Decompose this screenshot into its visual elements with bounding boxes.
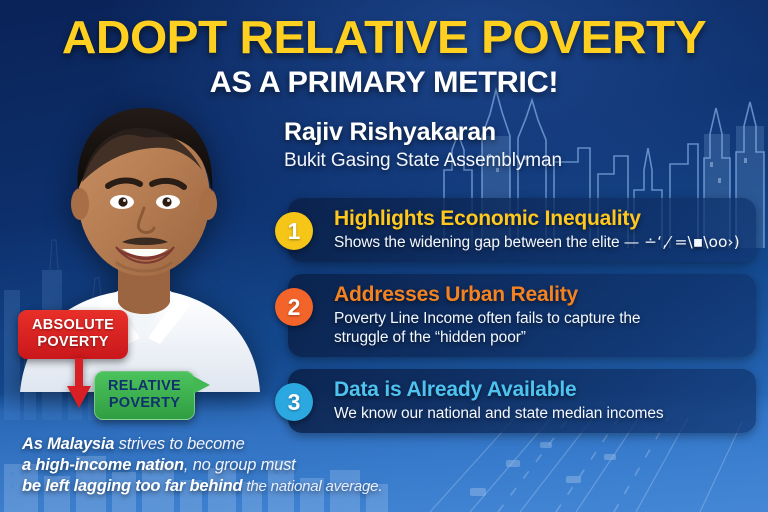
quote-line-3: be left lagging too far behind the natio… <box>22 476 382 497</box>
quote-l1-rest: strives to become <box>114 435 244 453</box>
absolute-poverty-line1: ABSOLUTE <box>32 317 114 334</box>
points-list: 1 Highlights Economic Inequality Shows t… <box>288 198 756 445</box>
point-body-3: We know our national and state median in… <box>334 404 742 423</box>
speaker-identity: Rajiv Rishyakaran Bukit Gasing State Ass… <box>284 118 562 172</box>
point-body-1-text: Shows the widening gap between the elite <box>334 234 624 251</box>
point-badge-2: 2 <box>275 288 313 326</box>
relative-poverty-callout: RELATIVE POVERTY <box>94 371 195 420</box>
relative-poverty-badge: RELATIVE POVERTY <box>94 371 195 420</box>
quote-l3-rest: the national average. <box>242 478 382 495</box>
point-card-3: 3 Data is Already Available We know our … <box>288 369 756 433</box>
absolute-poverty-badge: ABSOLUTE POVERTY <box>18 310 128 359</box>
absolute-poverty-line2: POVERTY <box>32 334 114 351</box>
quote-line-2: a high-income nation, no group must <box>22 455 382 476</box>
point-badge-1: 1 <box>275 212 313 250</box>
point-body-1: Shows the widening gap between the elite… <box>334 233 742 252</box>
point-card-2: 2 Addresses Urban Reality Poverty Line I… <box>288 274 756 357</box>
quote-l2-bold: a high-income nation <box>22 456 184 474</box>
quote-l3-bold: be left lagging too far behind <box>22 477 242 495</box>
infographic-canvas: ADOPT RELATIVE POVERTY AS A PRIMARY METR… <box>0 0 768 512</box>
absolute-poverty-callout: ABSOLUTE POVERTY <box>18 310 128 359</box>
closing-quote: As Malaysia strives to become a high-inc… <box>22 434 382 497</box>
speaker-role: Bukit Gasing State Assemblyman <box>284 150 562 172</box>
quote-line-1: As Malaysia strives to become <box>22 434 382 455</box>
point-title-2: Addresses Urban Reality <box>334 283 742 307</box>
quote-l1-bold: As Malaysia <box>22 435 114 453</box>
speaker-name: Rajiv Rishyakaran <box>284 118 562 147</box>
point-card-1: 1 Highlights Economic Inequality Shows t… <box>288 198 756 262</box>
relative-poverty-line1: RELATIVE <box>108 378 181 395</box>
relative-poverty-line2: POVERTY <box>108 395 181 412</box>
badge-tail <box>193 376 210 394</box>
point-body-1-glyph-tail: — ∸‘,⁄ =\▪\oo›) <box>624 233 740 251</box>
down-arrow-icon <box>66 358 92 410</box>
headline-line1: ADOPT RELATIVE POVERTY <box>0 14 768 60</box>
point-title-1: Highlights Economic Inequality <box>334 207 742 231</box>
point-title-3: Data is Already Available <box>334 378 742 402</box>
quote-l2-rest: , no group must <box>184 456 296 474</box>
point-badge-3: 3 <box>275 383 313 421</box>
point-body-2: Poverty Line Income often fails to captu… <box>334 309 674 347</box>
